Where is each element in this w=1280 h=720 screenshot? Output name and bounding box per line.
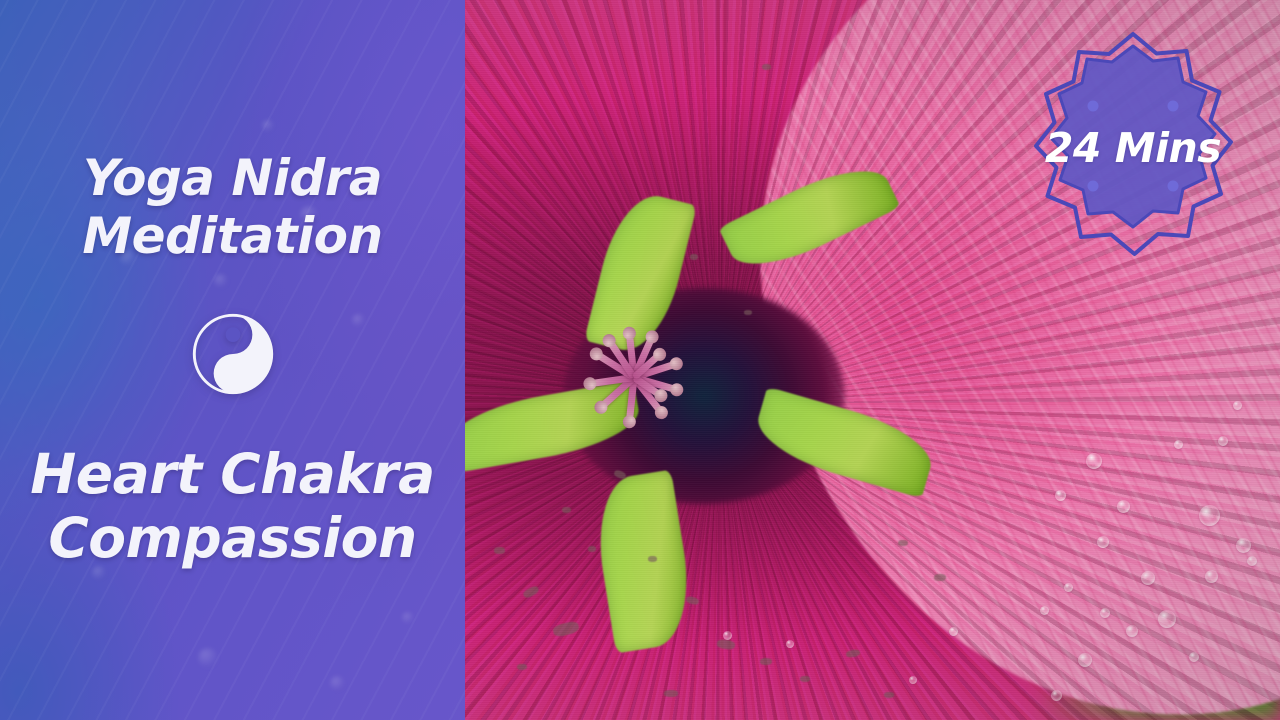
- page-title-secondary: Heart Chakra Compassion: [30, 443, 434, 571]
- title-line-2: Meditation: [82, 207, 382, 265]
- duration-badge: 24 Mins: [1013, 28, 1253, 268]
- subtitle-line-2: Compassion: [30, 507, 434, 571]
- title-line-1: Yoga Nidra: [82, 149, 382, 207]
- subtitle-line-1: Heart Chakra: [30, 443, 434, 507]
- yin-yang-icon: [190, 311, 276, 397]
- title-copy-block: Yoga Nidra Meditation Heart Chakra Compa…: [0, 0, 465, 720]
- page-title-primary: Yoga Nidra Meditation: [82, 149, 382, 265]
- badge-duration-label: 24 Mins: [1013, 28, 1253, 268]
- video-thumbnail: Yoga Nidra Meditation Heart Chakra Compa…: [0, 0, 1280, 720]
